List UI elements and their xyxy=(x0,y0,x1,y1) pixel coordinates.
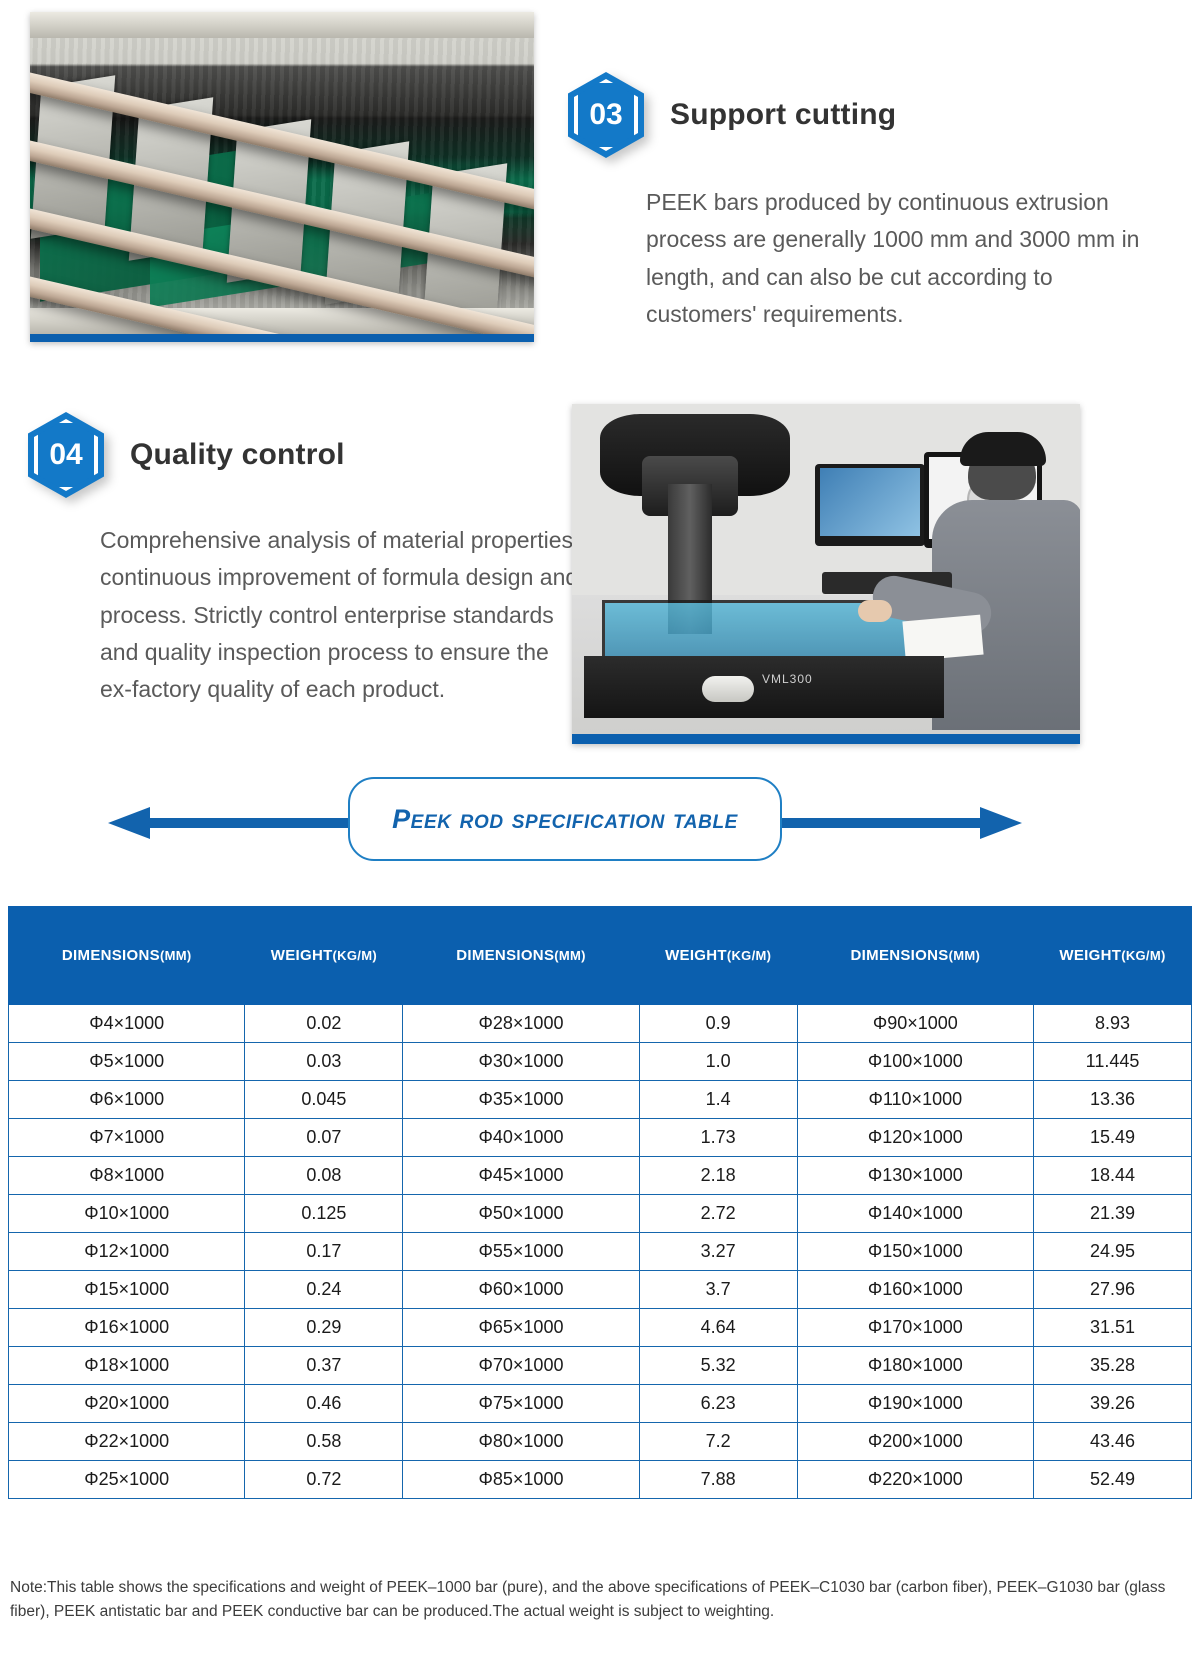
table-cell: 1.73 xyxy=(639,1119,797,1157)
table-cell: 8.93 xyxy=(1034,1005,1192,1043)
spec-table-banner: Peek rod specification table xyxy=(0,775,1200,870)
table-cell: 3.27 xyxy=(639,1233,797,1271)
table-cell: Φ10×1000 xyxy=(9,1195,245,1233)
table-cell: 35.28 xyxy=(1034,1347,1192,1385)
table-cell: 0.58 xyxy=(245,1423,403,1461)
spec-table-head: DIMENSIONS(MM)WEIGHT(KG/M)DIMENSIONS(MM)… xyxy=(9,907,1192,1005)
table-cell: Φ16×1000 xyxy=(9,1309,245,1347)
table-cell: Φ50×1000 xyxy=(403,1195,639,1233)
banner-title-box: Peek rod specification table xyxy=(348,777,782,861)
table-cell: 7.2 xyxy=(639,1423,797,1461)
table-cell: 7.88 xyxy=(639,1461,797,1499)
table-cell: Φ130×1000 xyxy=(797,1157,1033,1195)
table-cell: 0.045 xyxy=(245,1081,403,1119)
banner-title: Peek rod specification table xyxy=(392,804,738,835)
table-cell: Φ170×1000 xyxy=(797,1309,1033,1347)
quality-control-photo-frame: VML300 xyxy=(572,404,1080,744)
table-cell: Φ5×1000 xyxy=(9,1043,245,1081)
rods-photo-frame xyxy=(30,12,534,342)
table-cell: Φ200×1000 xyxy=(797,1423,1033,1461)
operator-hand xyxy=(858,600,892,622)
section-03-body: PEEK bars produced by continuous extrusi… xyxy=(646,184,1146,333)
spec-table-body: Φ4×10000.02Φ28×10000.9Φ90×10008.93Φ5×100… xyxy=(9,1005,1192,1499)
table-cell: 3.7 xyxy=(639,1271,797,1309)
table-cell: Φ25×1000 xyxy=(9,1461,245,1499)
table-cell: 0.72 xyxy=(245,1461,403,1499)
section-03-title: Support cutting xyxy=(670,98,896,132)
operator-cap xyxy=(960,432,1046,466)
table-cell: Φ55×1000 xyxy=(403,1233,639,1271)
table-cell: Φ90×1000 xyxy=(797,1005,1033,1043)
table-header-cell: WEIGHT(KG/M) xyxy=(639,907,797,1005)
table-cell: 0.9 xyxy=(639,1005,797,1043)
table-cell: 52.49 xyxy=(1034,1461,1192,1499)
table-cell: 39.26 xyxy=(1034,1385,1192,1423)
machine-model-label: VML300 xyxy=(762,672,813,686)
table-cell: Φ45×1000 xyxy=(403,1157,639,1195)
quality-control-photo: VML300 xyxy=(572,404,1080,734)
table-cell: Φ35×1000 xyxy=(403,1081,639,1119)
table-cell: 1.0 xyxy=(639,1043,797,1081)
table-header-cell: WEIGHT(KG/M) xyxy=(1034,907,1192,1005)
table-cell: Φ120×1000 xyxy=(797,1119,1033,1157)
table-cell: Φ75×1000 xyxy=(403,1385,639,1423)
table-cell: 2.18 xyxy=(639,1157,797,1195)
table-cell: Φ60×1000 xyxy=(403,1271,639,1309)
table-cell: 0.46 xyxy=(245,1385,403,1423)
step-number-04: 04 xyxy=(28,412,104,498)
table-cell: Φ160×1000 xyxy=(797,1271,1033,1309)
table-cell: Φ6×1000 xyxy=(9,1081,245,1119)
table-cell: 0.03 xyxy=(245,1043,403,1081)
section-03-heading: 03 Support cutting xyxy=(568,72,1168,158)
table-row: Φ7×10000.07Φ40×10001.73Φ120×100015.49 xyxy=(9,1119,1192,1157)
rods-photo xyxy=(30,12,534,334)
table-header-cell: WEIGHT(KG/M) xyxy=(245,907,403,1005)
table-cell: Φ140×1000 xyxy=(797,1195,1033,1233)
table-cell: Φ20×1000 xyxy=(9,1385,245,1423)
section-04-text-block: 04 Quality control Comprehensive analysi… xyxy=(28,412,588,708)
table-cell: Φ180×1000 xyxy=(797,1347,1033,1385)
table-cell: Φ18×1000 xyxy=(9,1347,245,1385)
table-cell: 0.07 xyxy=(245,1119,403,1157)
section-04-heading: 04 Quality control xyxy=(28,412,588,498)
white-sample-roller xyxy=(702,676,754,702)
table-cell: Φ100×1000 xyxy=(797,1043,1033,1081)
table-cell: 5.32 xyxy=(639,1347,797,1385)
table-cell: 0.17 xyxy=(245,1233,403,1271)
inspection-paper xyxy=(902,615,983,662)
table-row: Φ8×10000.08Φ45×10002.18Φ130×100018.44 xyxy=(9,1157,1192,1195)
table-cell: Φ7×1000 xyxy=(9,1119,245,1157)
table-cell: Φ65×1000 xyxy=(403,1309,639,1347)
table-cell: 0.29 xyxy=(245,1309,403,1347)
table-header-row: DIMENSIONS(MM)WEIGHT(KG/M)DIMENSIONS(MM)… xyxy=(9,907,1192,1005)
table-cell: Φ40×1000 xyxy=(403,1119,639,1157)
table-cell: 0.37 xyxy=(245,1347,403,1385)
monitor-left-screen xyxy=(820,468,920,536)
table-cell: 27.96 xyxy=(1034,1271,1192,1309)
table-cell: 24.95 xyxy=(1034,1233,1192,1271)
table-cell: Φ150×1000 xyxy=(797,1233,1033,1271)
table-cell: 18.44 xyxy=(1034,1157,1192,1195)
spec-table-wrapper: DIMENSIONS(MM)WEIGHT(KG/M)DIMENSIONS(MM)… xyxy=(8,906,1192,1499)
arrow-right-line xyxy=(768,818,982,828)
table-cell: 0.125 xyxy=(245,1195,403,1233)
table-row: Φ4×10000.02Φ28×10000.9Φ90×10008.93 xyxy=(9,1005,1192,1043)
table-cell: 2.72 xyxy=(639,1195,797,1233)
table-row: Φ5×10000.03Φ30×10001.0Φ100×100011.445 xyxy=(9,1043,1192,1081)
table-cell: 1.4 xyxy=(639,1081,797,1119)
section-04-body: Comprehensive analysis of material prope… xyxy=(100,522,580,708)
arrow-left-icon xyxy=(108,807,150,839)
table-header-cell: DIMENSIONS(MM) xyxy=(403,907,639,1005)
table-cell: Φ220×1000 xyxy=(797,1461,1033,1499)
table-cell: Φ12×1000 xyxy=(9,1233,245,1271)
table-cell: 0.24 xyxy=(245,1271,403,1309)
table-row: Φ18×10000.37Φ70×10005.32Φ180×100035.28 xyxy=(9,1347,1192,1385)
table-cell: 0.02 xyxy=(245,1005,403,1043)
table-row: Φ16×10000.29Φ65×10004.64Φ170×100031.51 xyxy=(9,1309,1192,1347)
table-cell: Φ70×1000 xyxy=(403,1347,639,1385)
table-cell: Φ8×1000 xyxy=(9,1157,245,1195)
spec-table: DIMENSIONS(MM)WEIGHT(KG/M)DIMENSIONS(MM)… xyxy=(8,906,1192,1499)
table-cell: 0.08 xyxy=(245,1157,403,1195)
table-cell: 4.64 xyxy=(639,1309,797,1347)
table-header-cell: DIMENSIONS(MM) xyxy=(797,907,1033,1005)
table-cell: 6.23 xyxy=(639,1385,797,1423)
table-row: Φ15×10000.24Φ60×10003.7Φ160×100027.96 xyxy=(9,1271,1192,1309)
section-04-title: Quality control xyxy=(130,438,345,472)
section-support-cutting: 03 Support cutting PEEK bars produced by… xyxy=(0,0,1200,380)
table-row: Φ25×10000.72Φ85×10007.88Φ220×100052.49 xyxy=(9,1461,1192,1499)
table-cell: Φ85×1000 xyxy=(403,1461,639,1499)
arrow-left-line xyxy=(148,818,353,828)
table-row: Φ6×10000.045Φ35×10001.4Φ110×100013.36 xyxy=(9,1081,1192,1119)
table-cell: Φ110×1000 xyxy=(797,1081,1033,1119)
table-cell: 11.445 xyxy=(1034,1043,1192,1081)
table-cell: Φ22×1000 xyxy=(9,1423,245,1461)
table-note: Note:This table shows the specifications… xyxy=(10,1576,1190,1624)
table-cell: Φ30×1000 xyxy=(403,1043,639,1081)
table-cell: Φ15×1000 xyxy=(9,1271,245,1309)
table-cell: 15.49 xyxy=(1034,1119,1192,1157)
table-cell: Φ190×1000 xyxy=(797,1385,1033,1423)
step-badge-04: 04 xyxy=(28,412,104,498)
table-cell: 43.46 xyxy=(1034,1423,1192,1461)
conveyor-rail-top xyxy=(30,12,534,38)
step-number-03: 03 xyxy=(568,72,644,158)
table-cell: Φ28×1000 xyxy=(403,1005,639,1043)
table-header-cell: DIMENSIONS(MM) xyxy=(9,907,245,1005)
table-row: Φ10×10000.125Φ50×10002.72Φ140×100021.39 xyxy=(9,1195,1192,1233)
arrow-right-icon xyxy=(980,807,1022,839)
table-row: Φ12×10000.17Φ55×10003.27Φ150×100024.95 xyxy=(9,1233,1192,1271)
section-03-text-block: 03 Support cutting PEEK bars produced by… xyxy=(568,72,1168,333)
table-cell: Φ4×1000 xyxy=(9,1005,245,1043)
table-cell: 31.51 xyxy=(1034,1309,1192,1347)
table-cell: 13.36 xyxy=(1034,1081,1192,1119)
table-cell: 21.39 xyxy=(1034,1195,1192,1233)
table-cell: Φ80×1000 xyxy=(403,1423,639,1461)
machine-base xyxy=(584,656,944,718)
table-row: Φ20×10000.46Φ75×10006.23Φ190×100039.26 xyxy=(9,1385,1192,1423)
table-row: Φ22×10000.58Φ80×10007.2Φ200×100043.46 xyxy=(9,1423,1192,1461)
step-badge-03: 03 xyxy=(568,72,644,158)
